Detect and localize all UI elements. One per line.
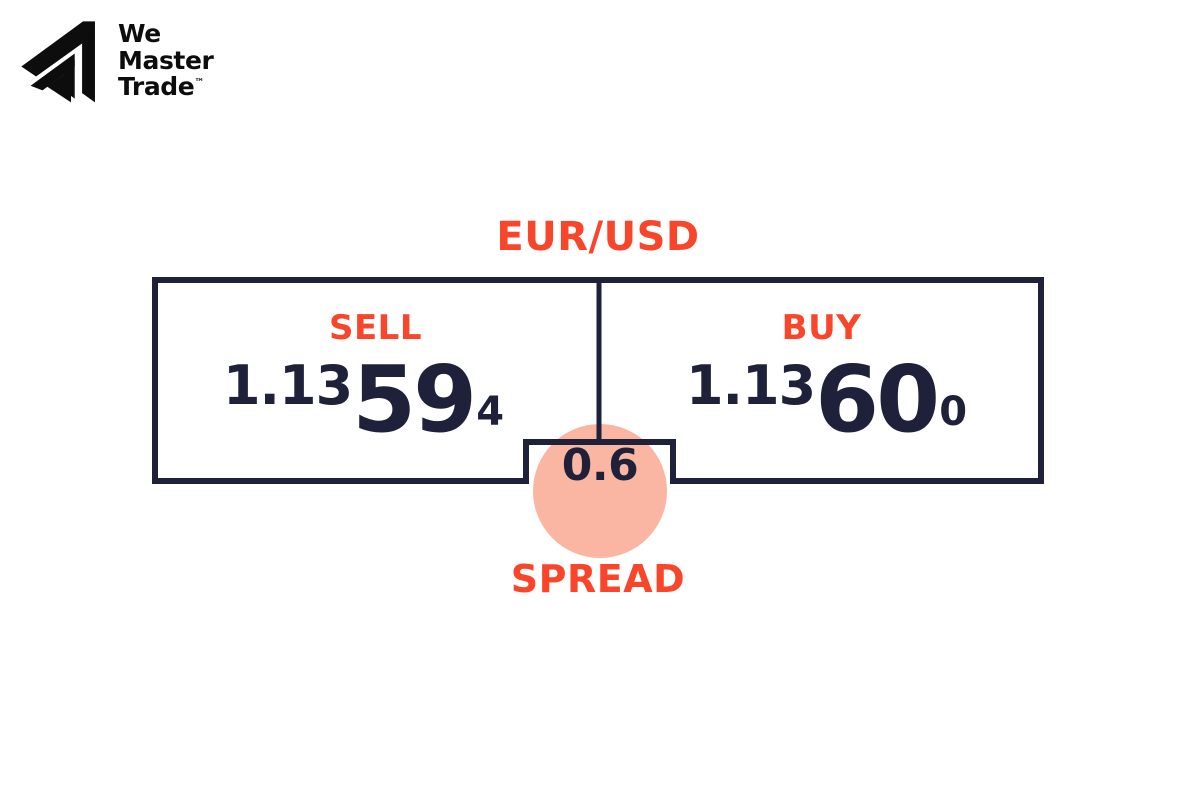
buy-big-figure: 1.13: [686, 354, 815, 417]
buy-price: 1.13 60 0: [678, 352, 965, 437]
price-quote-widget: EUR/USD SELL 1.13 59 4: [152, 214, 1044, 601]
sell-fraction-pip: 4: [476, 389, 504, 435]
brand-wordmark: We Master Trade™: [118, 21, 213, 101]
brand-name-line-3: Trade: [118, 72, 194, 101]
buy-label: BUY: [782, 308, 862, 348]
sell-price: 1.13 59 4: [223, 352, 528, 437]
trademark-symbol: ™: [194, 78, 204, 89]
arrow-chevron-logo-icon: [14, 14, 106, 106]
sell-big-figure: 1.13: [223, 354, 352, 417]
brand-name-line-1: We: [118, 19, 161, 48]
brand-logo: We Master Trade™: [14, 14, 213, 106]
spread-value: 0.6: [528, 440, 672, 491]
spread-caption: SPREAD: [152, 557, 1044, 601]
currency-pair-title: EUR/USD: [152, 214, 1044, 260]
sell-label: SELL: [329, 308, 422, 348]
buy-pips: 60: [815, 358, 937, 443]
sell-pips: 59: [352, 358, 474, 443]
brand-name-line-2: Master: [118, 46, 213, 75]
quote-widget-page: We Master Trade™ EUR/USD SELL 1.13 59 4: [0, 0, 1200, 800]
buy-fraction-pip: 0: [939, 389, 967, 435]
quote-board: SELL 1.13 59 4 BUY 1.13 60 0 0.6: [152, 277, 1044, 484]
